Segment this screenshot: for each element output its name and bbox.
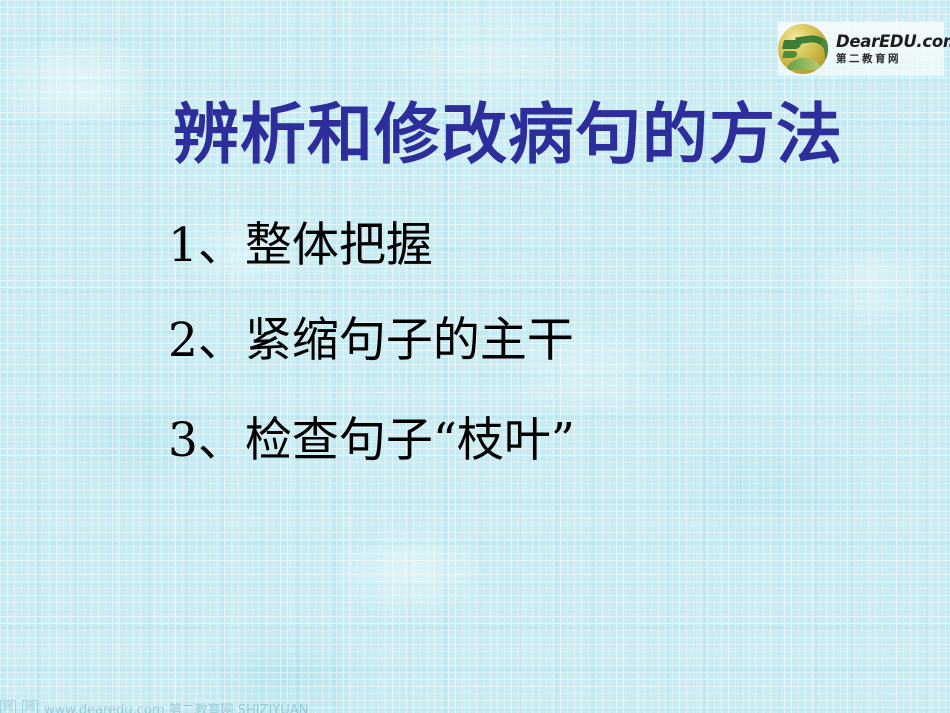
- watermark-box-left: 网: [0, 700, 16, 713]
- list-item: 1、整体把握: [168, 222, 868, 269]
- dearedu-logo[interactable]: DearEDU.com 第二教育网: [778, 22, 944, 76]
- logo-brand-name: DearEDU.com: [836, 34, 950, 51]
- logo-brand-subtitle: 第二教育网: [836, 54, 950, 65]
- list-item: 3、检查句子“枝叶”: [168, 412, 588, 471]
- watermark-box-right: 网: [22, 700, 38, 713]
- slide-title: 辨析和修改病句的方法: [173, 98, 833, 172]
- presentation-slide: DearEDU.com 第二教育网 辨析和修改病句的方法 1、整体把握 2、紧缩…: [0, 0, 950, 713]
- swoosh-bar-lower: [782, 51, 797, 58]
- slide-body-list: 1、整体把握 2、紧缩句子的主干 3、检查句子“枝叶”: [168, 222, 868, 519]
- list-item: 2、紧缩句子的主干: [168, 317, 868, 364]
- watermark-text: www.dearedu.com 第二教育网 SHIZIYUAN: [44, 699, 308, 713]
- dearedu-sphere-icon: [778, 24, 828, 74]
- logo-text-block: DearEDU.com 第二教育网: [836, 34, 950, 64]
- bottom-watermark: 网 网 www.dearedu.com 第二教育网 SHIZIYUAN: [0, 697, 420, 713]
